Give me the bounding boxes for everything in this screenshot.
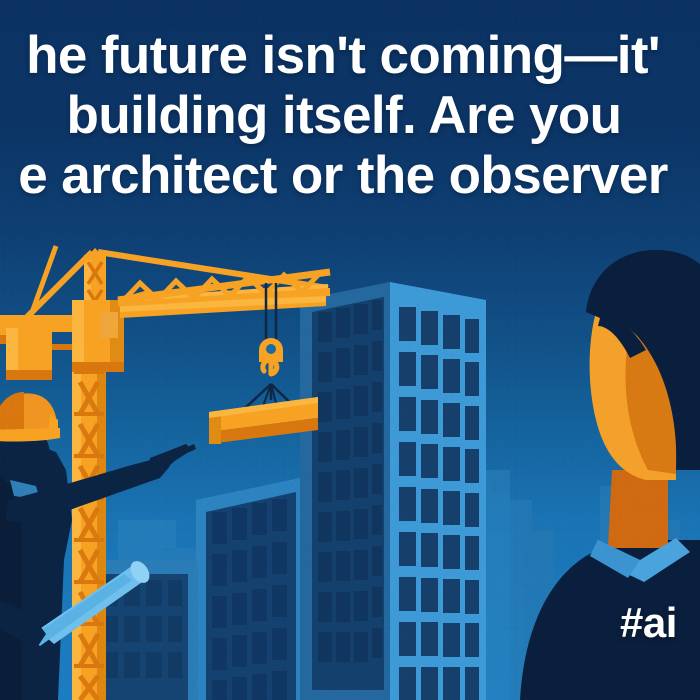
- poster-canvas: he future isn't coming—it' building itse…: [0, 0, 700, 700]
- headline-line-2: building itself. Are you: [0, 86, 700, 146]
- building-tower-tall: [300, 282, 486, 700]
- hook-block: [259, 338, 283, 374]
- headline-line-1: he future isn't coming—it': [0, 26, 700, 86]
- building-tower-short: [196, 478, 300, 700]
- crane-cab: [72, 300, 124, 372]
- headline: he future isn't coming—it' building itse…: [0, 26, 700, 206]
- hashtag-label: #ai: [620, 600, 677, 646]
- hard-hat: [0, 392, 60, 442]
- headline-line-3: e architect or the observer: [0, 146, 700, 206]
- crane-mast: [72, 330, 106, 700]
